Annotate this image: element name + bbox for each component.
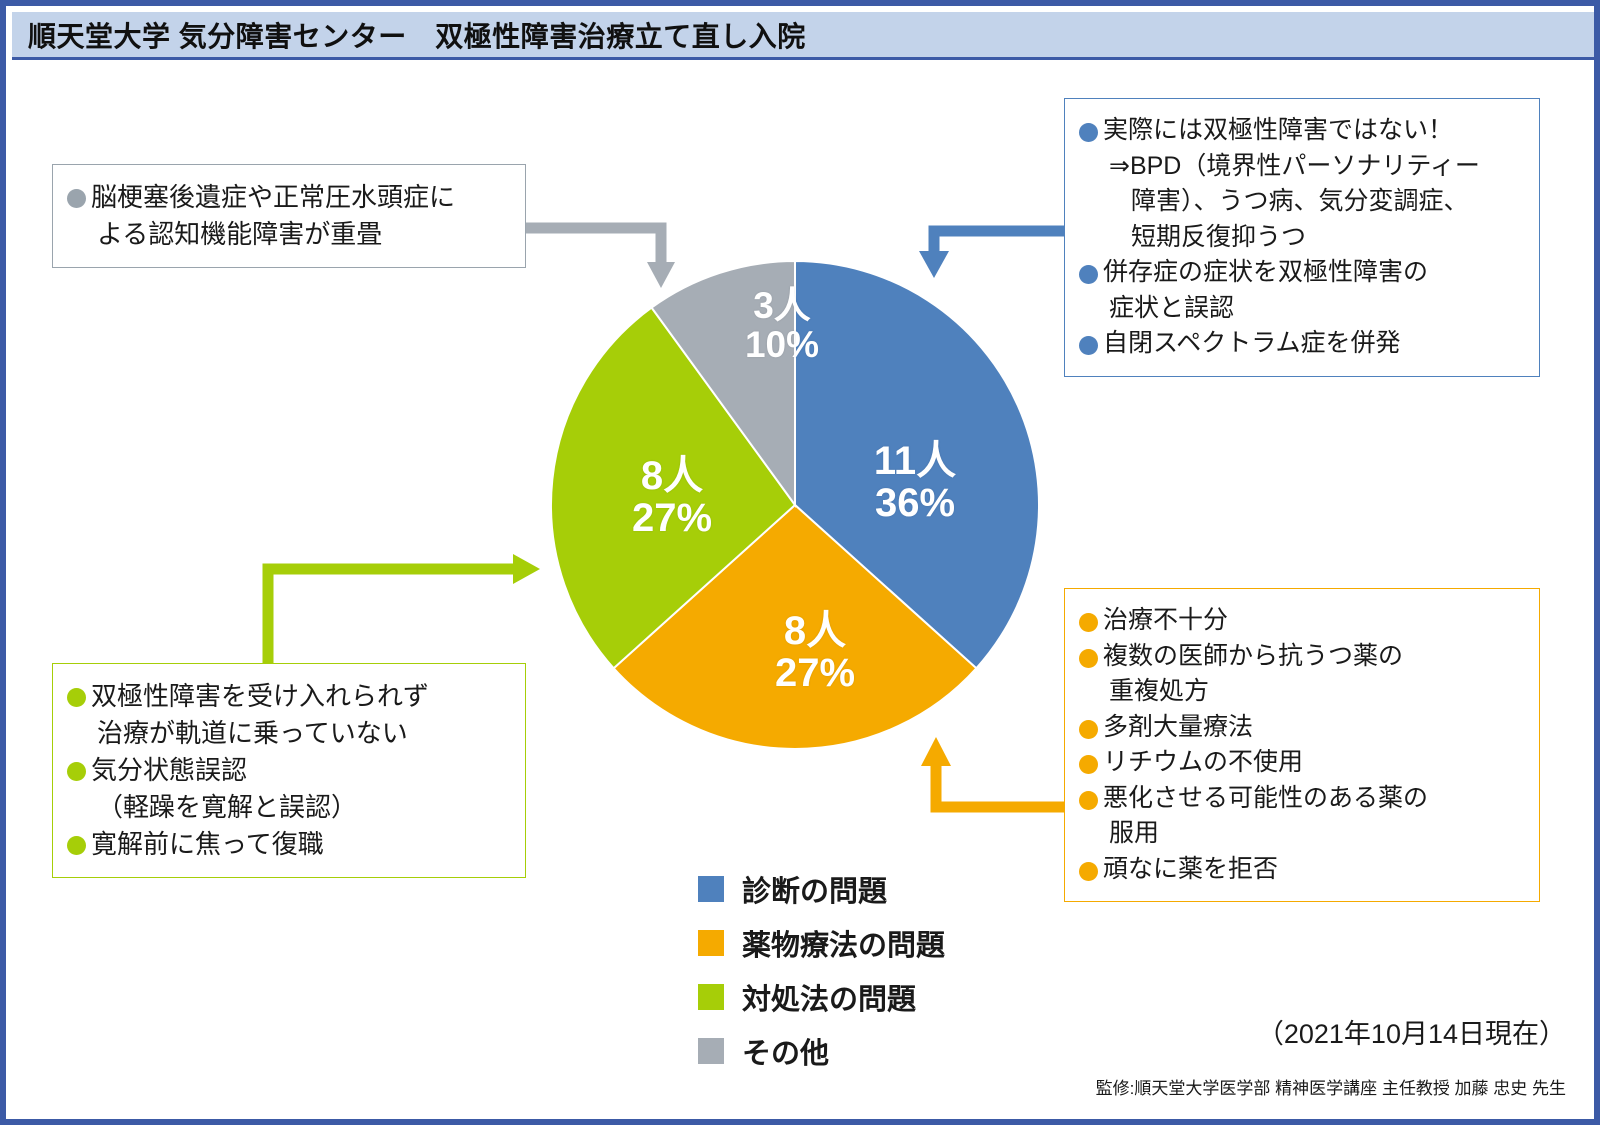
callout-line: 自閉スペクトラム症を併発 — [1079, 326, 1523, 362]
legend-item[interactable]: その他 — [698, 1030, 945, 1072]
chart-legend: 診断の問題薬物療法の問題対処法の問題その他 — [698, 868, 945, 1072]
callout-text: リチウムの不使用 — [1103, 745, 1303, 781]
callout-line: 重複処方 — [1079, 674, 1523, 710]
pie-slice-count-orange: 8人 — [740, 610, 890, 652]
callout-text: 障害）、うつ病、気分変調症、 — [1131, 184, 1469, 220]
pie-slice-label-green: 8人 27% — [597, 455, 747, 540]
callout-line: 服用 — [1079, 816, 1523, 852]
pie-chart: 11人 36% 8人 27% 8人 27% 3人 10% — [550, 260, 1040, 750]
legend-swatch-icon — [698, 984, 724, 1010]
callout-line: 寛解前に焦って復職 — [67, 826, 509, 863]
callout-text: 短期反復抑うつ — [1131, 220, 1306, 256]
callout-text: 悪化させる可能性のある薬の — [1103, 781, 1428, 817]
bullet-icon — [1079, 649, 1098, 668]
callout-text: よる認知機能障害が重畳 — [97, 216, 382, 253]
legend-label: 対処法の問題 — [742, 976, 916, 1018]
pie-slice-count-blue: 11人 — [840, 440, 990, 482]
legend-item[interactable]: 薬物療法の問題 — [698, 922, 945, 964]
page-title: 順天堂大学 気分障害センター 双極性障害治療立て直し入院 — [12, 15, 806, 55]
bullet-icon — [67, 836, 86, 855]
callout-line: よる認知機能障害が重畳 — [67, 216, 509, 253]
callout-diagnosis: 実際には双極性障害ではない！⇒BPD（境界性パーソナリティー障害）、うつ病、気分… — [1064, 98, 1540, 377]
callout-text: 治療不十分 — [1103, 603, 1228, 639]
callout-line: 多剤大量療法 — [1079, 710, 1523, 746]
callout-line: 悪化させる可能性のある薬の — [1079, 781, 1523, 817]
callout-text: 自閉スペクトラム症を併発 — [1103, 326, 1401, 362]
bullet-icon — [1079, 613, 1098, 632]
pie-slice-percent-orange: 27% — [740, 652, 890, 694]
callout-line: 気分状態誤認 — [67, 752, 509, 789]
callout-text: 併存症の症状を双極性障害の — [1103, 255, 1428, 291]
legend-item[interactable]: 診断の問題 — [698, 868, 945, 910]
callout-text: ⇒BPD（境界性パーソナリティー — [1109, 149, 1480, 185]
callout-line: （軽躁を寛解と誤認） — [67, 789, 509, 826]
callout-line: 実際には双極性障害ではない！ — [1079, 113, 1523, 149]
callout-line: ⇒BPD（境界性パーソナリティー — [1079, 149, 1523, 185]
callout-line: 短期反復抑うつ — [1079, 220, 1523, 256]
callout-line: 双極性障害を受け入れられず — [67, 678, 509, 715]
supervisor-note: 監修:順天堂大学医学部 精神医学講座 主任教授 加藤 忠史 先生 — [1096, 1074, 1566, 1099]
callout-text: 多剤大量療法 — [1103, 710, 1253, 746]
callout-text: 複数の医師から抗うつ薬の — [1103, 639, 1403, 675]
callout-line: 併存症の症状を双極性障害の — [1079, 255, 1523, 291]
bullet-icon — [67, 189, 86, 208]
legend-swatch-icon — [698, 1038, 724, 1064]
callout-text: 気分状態誤認 — [91, 752, 247, 789]
callout-text: 頑なに薬を拒否 — [1103, 852, 1278, 888]
callout-text: （軽躁を寛解と誤認） — [97, 789, 357, 826]
callout-other: 脳梗塞後遺症や正常圧水頭症による認知機能障害が重畳 — [52, 164, 526, 268]
callout-text: 治療が軌道に乗っていない — [97, 715, 408, 752]
date-note: （2021年10月14日現在） — [1257, 1012, 1566, 1051]
callout-line: 治療が軌道に乗っていない — [67, 715, 509, 752]
infographic-page: 順天堂大学 気分障害センター 双極性障害治療立て直し入院 11人 36% 8人 … — [0, 0, 1600, 1125]
bullet-icon — [1079, 862, 1098, 881]
callout-text: 服用 — [1109, 816, 1159, 852]
bullet-icon — [1079, 791, 1098, 810]
callout-line: 複数の医師から抗うつ薬の — [1079, 639, 1523, 675]
bullet-icon — [67, 762, 86, 781]
callout-line: 脳梗塞後遺症や正常圧水頭症に — [67, 179, 509, 216]
pie-slice-percent-green: 27% — [597, 497, 747, 539]
legend-label: その他 — [742, 1030, 829, 1072]
callout-text: 双極性障害を受け入れられず — [91, 678, 429, 715]
bullet-icon — [1079, 720, 1098, 739]
header-bar: 順天堂大学 気分障害センター 双極性障害治療立て直し入院 — [12, 12, 1594, 60]
callout-coping: 双極性障害を受け入れられず治療が軌道に乗っていない気分状態誤認（軽躁を寛解と誤認… — [52, 663, 526, 878]
callout-line: 症状と誤認 — [1079, 291, 1523, 327]
callout-text: 重複処方 — [1109, 674, 1209, 710]
pie-slice-count-green: 8人 — [597, 455, 747, 497]
arrow-green — [268, 554, 540, 666]
callout-line: 治療不十分 — [1079, 603, 1523, 639]
pie-slice-label-gray: 3人 10% — [712, 286, 852, 364]
legend-label: 診断の問題 — [742, 868, 887, 910]
callout-text: 寛解前に焦って復職 — [91, 826, 324, 863]
legend-label: 薬物療法の問題 — [742, 922, 945, 964]
callout-line: 頑なに薬を拒否 — [1079, 852, 1523, 888]
pie-slice-percent-blue: 36% — [840, 482, 990, 524]
callout-line: 障害）、うつ病、気分変調症、 — [1079, 184, 1523, 220]
callout-text: 脳梗塞後遺症や正常圧水頭症に — [91, 179, 455, 216]
pie-slice-label-blue: 11人 36% — [840, 440, 990, 525]
legend-swatch-icon — [698, 930, 724, 956]
bullet-icon — [1079, 336, 1098, 355]
callout-medication: 治療不十分複数の医師から抗うつ薬の重複処方多剤大量療法リチウムの不使用悪化させる… — [1064, 588, 1540, 902]
callout-text: 症状と誤認 — [1109, 291, 1234, 327]
pie-slice-label-orange: 8人 27% — [740, 610, 890, 695]
callout-line: リチウムの不使用 — [1079, 745, 1523, 781]
legend-swatch-icon — [698, 876, 724, 902]
callout-text: 実際には双極性障害ではない！ — [1103, 113, 1453, 149]
pie-slice-percent-gray: 10% — [712, 325, 852, 364]
bullet-icon — [1079, 755, 1098, 774]
legend-item[interactable]: 対処法の問題 — [698, 976, 945, 1018]
bullet-icon — [67, 688, 86, 707]
bullet-icon — [1079, 123, 1098, 142]
bullet-icon — [1079, 265, 1098, 284]
pie-slice-count-gray: 3人 — [712, 286, 852, 325]
